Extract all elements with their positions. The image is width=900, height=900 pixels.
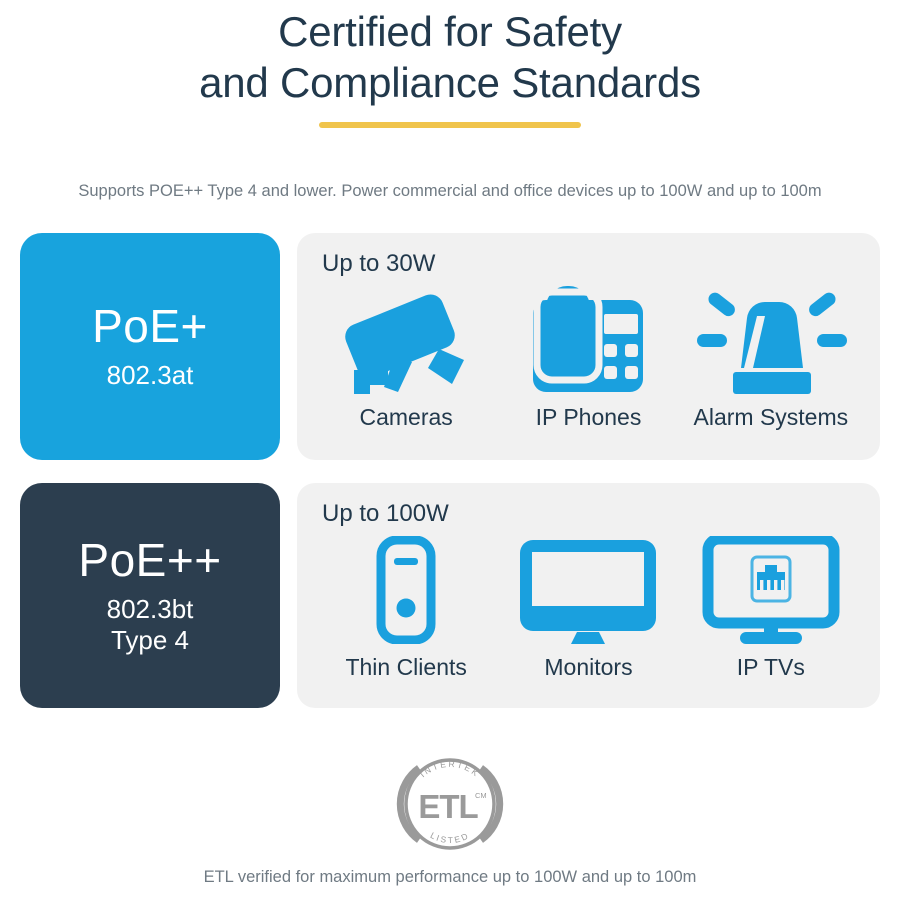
badge-type-text: Type 4 bbox=[107, 625, 194, 656]
etl-certification-mark-wrap: ETL INTERTEK LISTED CM bbox=[0, 748, 900, 860]
badge-title: PoE++ bbox=[78, 536, 221, 584]
badge-title: PoE+ bbox=[92, 302, 208, 350]
device-item: Thin Clients bbox=[315, 532, 497, 681]
device-item: Monitors bbox=[497, 532, 679, 681]
device-label: Thin Clients bbox=[345, 654, 466, 681]
icon-slot bbox=[520, 532, 656, 644]
certification-caption: ETL verified for maximum performance up … bbox=[0, 868, 900, 887]
title-accent-underline bbox=[319, 122, 581, 128]
icon-slot bbox=[374, 532, 438, 644]
page-title-line-1: Certified for Safety bbox=[0, 0, 900, 57]
badge-standard: 802.3at bbox=[107, 360, 194, 391]
etl-top-text: INTERTEK bbox=[418, 759, 482, 779]
poe-plusplus-device-panel: Up to 100W Thin Clients bbox=[297, 483, 880, 708]
etl-superscript-text: CM bbox=[475, 791, 487, 800]
icon-slot bbox=[340, 282, 472, 394]
poe-plusplus-row: PoE++ 802.3bt Type 4 Up to 100W bbox=[20, 483, 880, 708]
security-camera-icon bbox=[340, 288, 472, 394]
power-label: Up to 100W bbox=[322, 500, 880, 528]
thin-client-tower-icon bbox=[374, 536, 438, 644]
etl-listed-icon: ETL INTERTEK LISTED CM bbox=[391, 748, 509, 860]
badge-standard: 802.3bt Type 4 bbox=[107, 594, 194, 655]
icon-slot bbox=[702, 532, 840, 644]
poe-plus-device-panel: Up to 30W Cameras bbox=[297, 233, 880, 460]
icon-slot bbox=[695, 282, 847, 394]
etl-bottom-text: LISTED bbox=[429, 830, 472, 845]
monitor-icon bbox=[520, 538, 656, 644]
power-label: Up to 30W bbox=[322, 250, 880, 278]
icon-slot bbox=[530, 282, 646, 394]
header: Certified for Safety and Compliance Stan… bbox=[0, 0, 900, 128]
poe-plusplus-badge: PoE++ 802.3bt Type 4 bbox=[20, 483, 280, 708]
etl-center-text: ETL bbox=[418, 788, 478, 825]
badge-standard-text: 802.3bt bbox=[107, 594, 194, 624]
device-list: Cameras bbox=[297, 282, 880, 431]
device-item: IP TVs bbox=[680, 532, 862, 681]
poe-plus-badge: PoE+ 802.3at bbox=[20, 233, 280, 460]
ip-tv-icon bbox=[702, 536, 840, 644]
infographic-root: Certified for Safety and Compliance Stan… bbox=[0, 0, 900, 900]
subtitle-text: Supports POE++ Type 4 and lower. Power c… bbox=[0, 182, 900, 201]
device-label: Cameras bbox=[360, 404, 453, 431]
device-item: IP Phones bbox=[497, 282, 679, 431]
alarm-siren-icon bbox=[695, 290, 847, 394]
device-list: Thin Clients Monitors bbox=[297, 532, 880, 681]
device-item: Alarm Systems bbox=[680, 282, 862, 431]
device-label: IP Phones bbox=[536, 404, 642, 431]
device-label: IP TVs bbox=[737, 654, 805, 681]
ip-phone-icon bbox=[530, 286, 646, 394]
device-label: Alarm Systems bbox=[694, 404, 849, 431]
device-label: Monitors bbox=[544, 654, 632, 681]
poe-plus-row: PoE+ 802.3at Up to 30W bbox=[20, 233, 880, 460]
page-title-line-2: and Compliance Standards bbox=[0, 57, 900, 108]
badge-standard-text: 802.3at bbox=[107, 360, 194, 390]
device-item: Cameras bbox=[315, 282, 497, 431]
